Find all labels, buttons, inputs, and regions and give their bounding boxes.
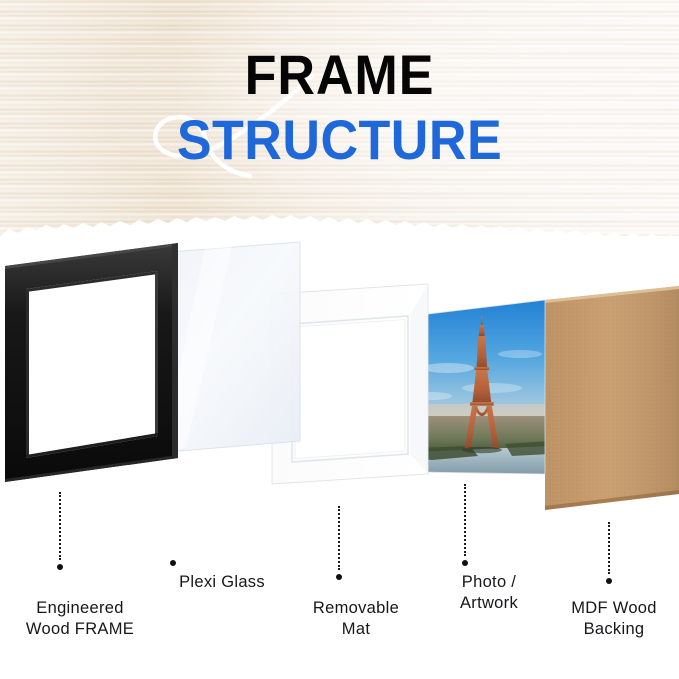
bullet-dot-icon	[606, 578, 612, 584]
frame-exploded-diagram	[0, 236, 679, 546]
label-mdf-wood-backing: MDF Wood Backing	[540, 598, 679, 640]
layer-mdf-backing	[545, 286, 679, 510]
page-title: FRAME STRUCTURE	[0, 46, 679, 170]
leader-mat	[334, 506, 344, 578]
leader-line	[464, 484, 466, 556]
leader-line	[608, 522, 610, 574]
leader-line	[59, 492, 61, 560]
leader-photo	[460, 484, 470, 566]
leader-backing	[604, 522, 614, 582]
leader-plexi-glass	[168, 560, 178, 572]
label-removable-mat: Removable Mat	[286, 598, 426, 640]
bullet-dot-icon	[170, 560, 176, 566]
title-line-frame: FRAME	[24, 46, 655, 104]
bullet-dot-icon	[336, 574, 342, 580]
bullet-dot-icon	[462, 560, 468, 566]
leader-line	[338, 506, 340, 570]
infographic-canvas: FRAME STRUCTURE	[0, 0, 679, 679]
label-engineered-wood-frame: Engineered Wood FRAME	[6, 598, 154, 640]
label-plexi-glass: Plexi Glass	[152, 572, 292, 593]
label-photo-artwork: Photo / Artwork	[430, 572, 548, 614]
layer-photo-artwork	[412, 296, 551, 481]
title-line-structure: STRUCTURE	[24, 110, 655, 170]
leader-frame	[55, 492, 65, 576]
bullet-dot-icon	[57, 564, 63, 570]
layer-engineered-wood-frame	[5, 243, 178, 482]
